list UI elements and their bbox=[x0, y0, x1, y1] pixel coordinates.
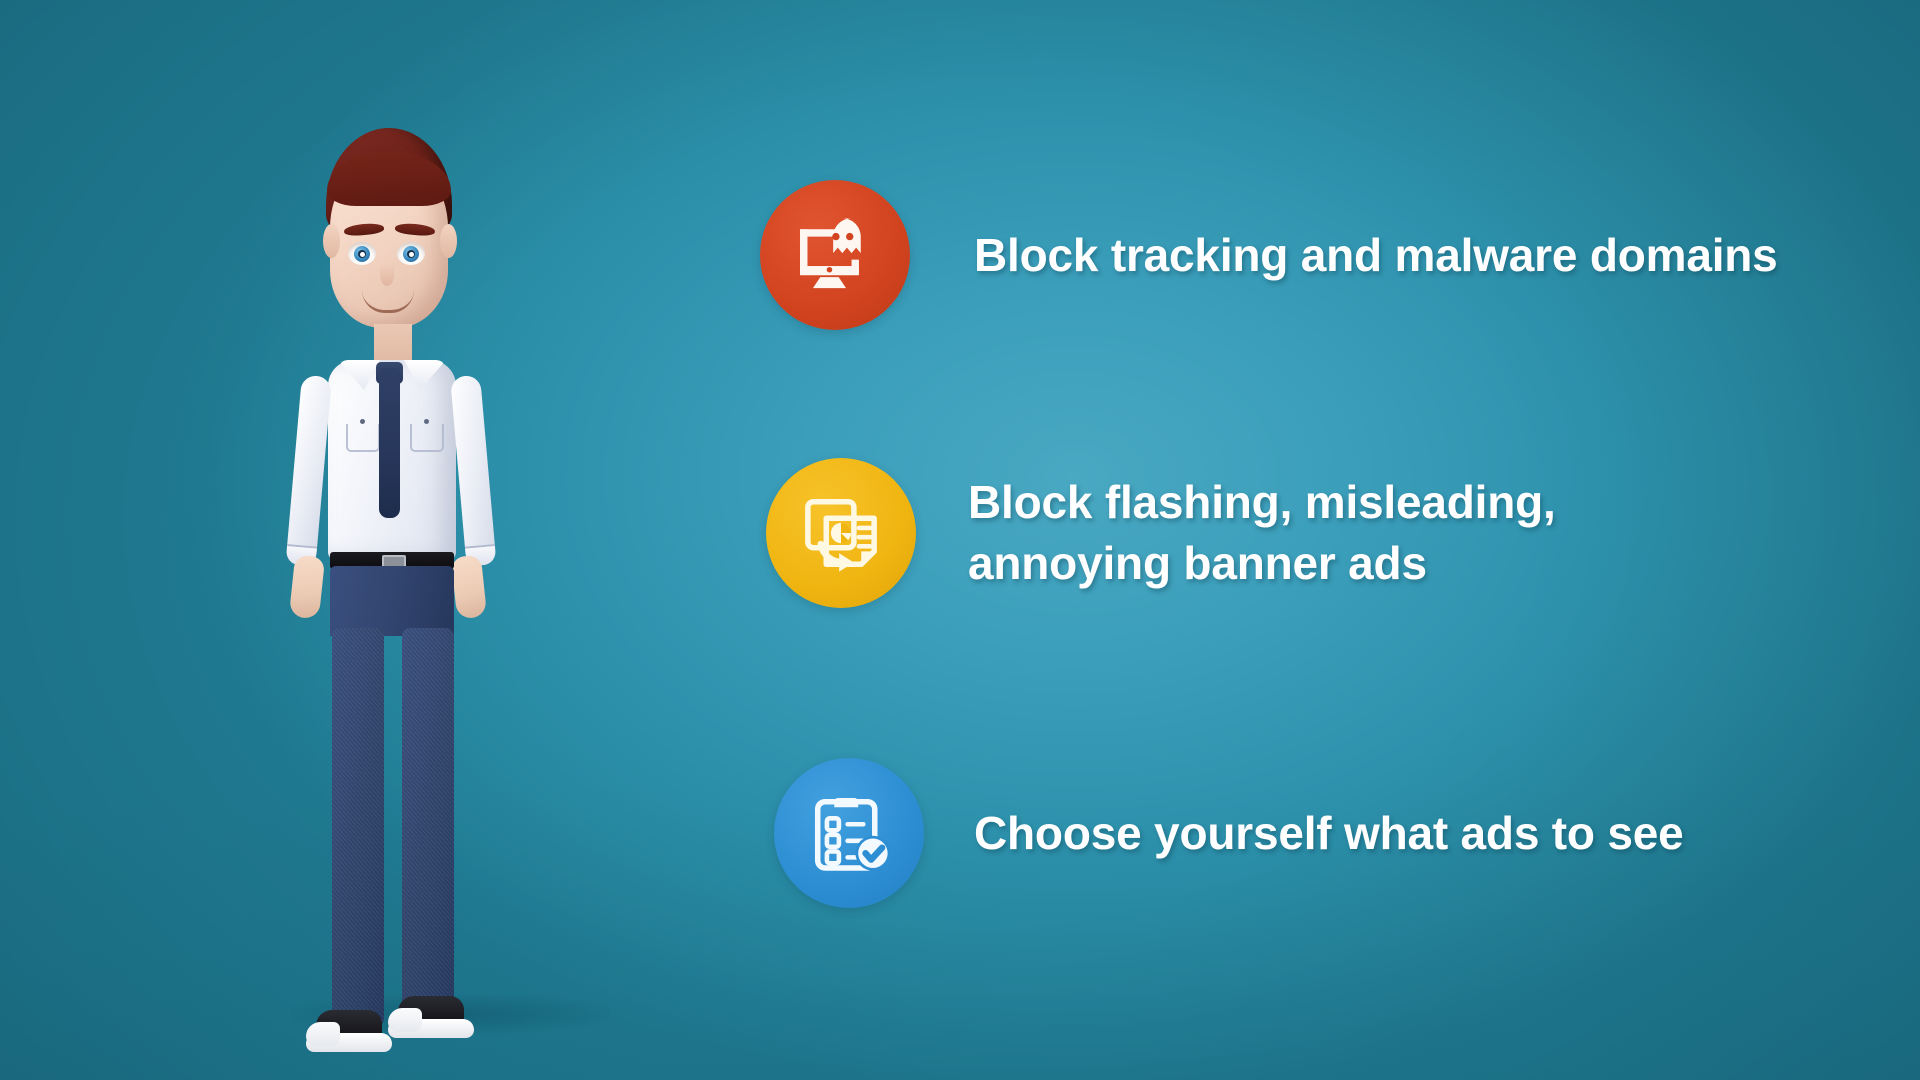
feature-item-block-tracking: Block tracking and malware domains bbox=[760, 180, 1880, 330]
feature-item-block-banner-ads: Block flashing, misleading, annoying ban… bbox=[760, 458, 1880, 608]
shoe-toe-right bbox=[388, 1008, 422, 1032]
eye-glint-left bbox=[360, 252, 365, 257]
eye-left bbox=[348, 242, 376, 265]
feature-badge-block-tracking bbox=[760, 180, 910, 330]
eye-right bbox=[397, 242, 425, 265]
collar-right bbox=[404, 360, 446, 390]
iris-left bbox=[354, 246, 370, 262]
feature-label-block-banner-ads: Block flashing, misleading, annoying ban… bbox=[968, 472, 1556, 593]
shoe-left bbox=[306, 1010, 392, 1052]
monitor-ghost-icon bbox=[789, 209, 881, 301]
shoe-right bbox=[388, 996, 474, 1038]
promo-slide: Block tracking and malware domains bbox=[0, 0, 1920, 1080]
pupil-right bbox=[407, 250, 415, 258]
pocket-button-right bbox=[424, 419, 429, 424]
pocket-button-left bbox=[360, 419, 365, 424]
feature-badge-choose-ads bbox=[774, 758, 924, 908]
shirt-pocket-right bbox=[410, 424, 444, 452]
feature-badge-block-banner-ads bbox=[766, 458, 916, 608]
pupil-left bbox=[358, 250, 366, 258]
leg-right bbox=[402, 628, 454, 1028]
iris-right bbox=[403, 246, 419, 262]
shoe-toe-left bbox=[306, 1022, 340, 1046]
hand-left bbox=[289, 555, 325, 620]
arm-left bbox=[285, 375, 331, 567]
ear-right bbox=[440, 224, 457, 258]
nose bbox=[380, 264, 394, 286]
feature-label-choose-ads: Choose yourself what ads to see bbox=[974, 803, 1684, 864]
character-illustration bbox=[270, 128, 630, 1028]
collar-left bbox=[338, 360, 380, 390]
ear-left bbox=[323, 224, 340, 258]
shirt-pocket-left bbox=[346, 424, 380, 452]
checklist-approved-icon bbox=[803, 787, 895, 879]
banner-ads-icon bbox=[795, 487, 887, 579]
feature-item-choose-ads: Choose yourself what ads to see bbox=[760, 758, 1880, 908]
jeans-hip bbox=[330, 566, 454, 636]
feature-label-block-tracking: Block tracking and malware domains bbox=[974, 225, 1778, 286]
arm-right bbox=[450, 375, 496, 567]
necktie bbox=[379, 368, 400, 518]
eye-glint-right bbox=[409, 252, 414, 257]
leg-left bbox=[332, 628, 384, 1028]
